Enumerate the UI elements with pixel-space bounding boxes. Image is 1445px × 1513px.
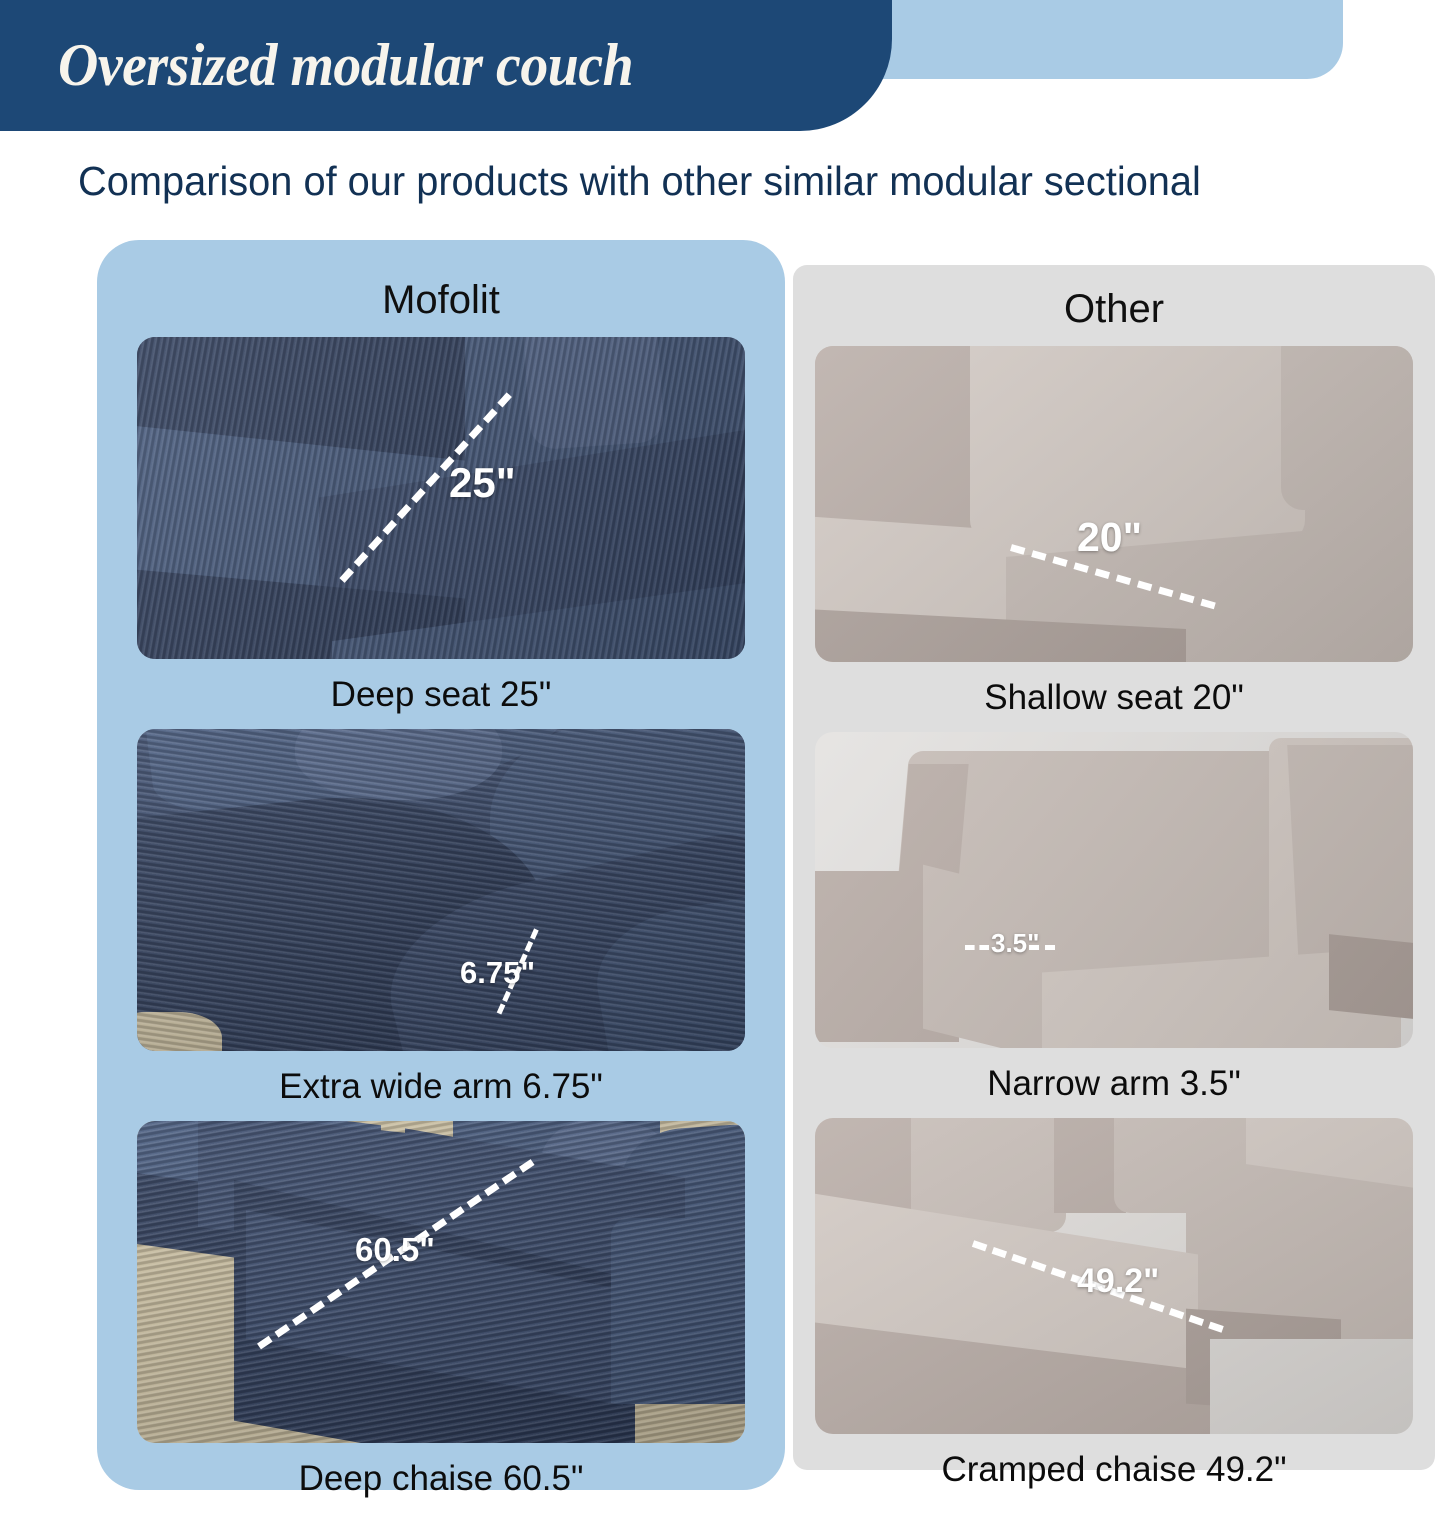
page-title: Oversized modular couch [58,31,633,100]
row-seat-depth-mofolit: 25" Deep seat 25" [97,337,785,729]
row-chaise-depth-other: 49.2" Cramped chaise 49.2" [793,1118,1435,1504]
mofolit-rows: 25" Deep seat 25" [97,337,785,1513]
caption-deep-chaise: Deep chaise 60.5" [97,1443,785,1513]
caption-narrow-arm: Narrow arm 3.5" [793,1048,1435,1118]
dimension-label-675in: 6.75" [460,955,535,991]
header-banner: Oversized modular couch [0,0,892,131]
photo-shallow-seat: 20" [815,346,1413,662]
caption-shallow-seat: Shallow seat 20" [793,662,1435,732]
dimension-label-492in: 49.2" [1077,1262,1159,1301]
column-other: Other 20" [793,265,1435,1470]
row-chaise-depth-mofolit: 60.5" Deep chaise 60.5" [97,1121,785,1513]
page-subtitle: Comparison of our products with other si… [78,158,1436,205]
photo-wide-arm: 6.75" [137,729,745,1051]
caption-wide-arm: Extra wide arm 6.75" [97,1051,785,1121]
header: Oversized modular couch [0,0,1445,135]
dimension-label-605in: 60.5" [355,1231,435,1269]
dimension-line-35in-left [965,945,989,950]
caption-cramped-chaise: Cramped chaise 49.2" [793,1434,1435,1504]
caption-deep-seat: Deep seat 25" [97,659,785,729]
photo-deep-seat: 25" [137,337,745,659]
comparison-grid: Mofolit [0,240,1445,1500]
photo-narrow-arm: 3.5" [815,732,1413,1048]
photo-deep-chaise: 60.5" [137,1121,745,1443]
dimension-label-25in: 25" [449,459,516,507]
column-header-mofolit: Mofolit [97,240,785,323]
column-mofolit: Mofolit [97,240,785,1490]
row-arm-width-other: 3.5" Narrow arm 3.5" [793,732,1435,1118]
row-arm-width-mofolit: 6.75" Extra wide arm 6.75" [97,729,785,1121]
photo-cramped-chaise: 49.2" [815,1118,1413,1434]
column-header-other: Other [793,265,1435,332]
other-rows: 20" Shallow seat 20" [793,346,1435,1504]
dimension-label-35in: 3.5" [991,928,1039,959]
dimension-label-20in: 20" [1077,514,1142,561]
row-seat-depth-other: 20" Shallow seat 20" [793,346,1435,732]
